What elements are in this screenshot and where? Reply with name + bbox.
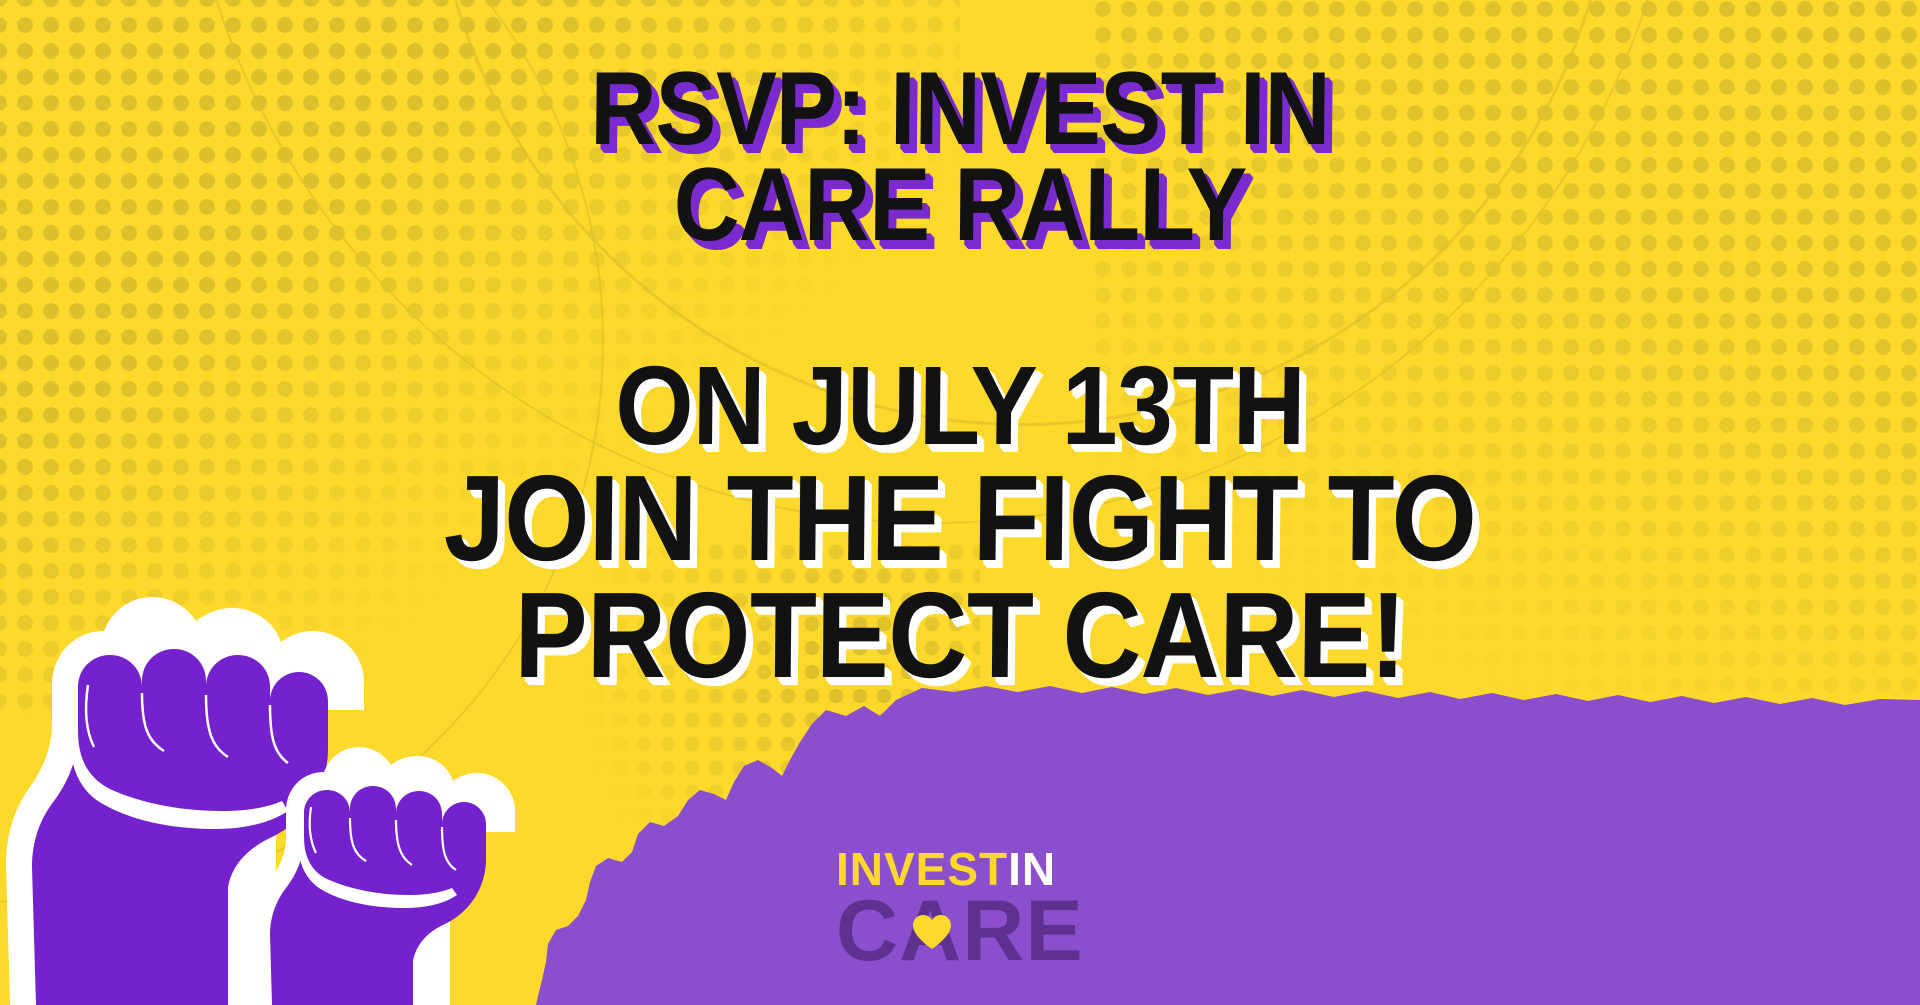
logo-word-care: CARE [836, 883, 1084, 979]
headline-line-1: RSVP: INVEST IN [115, 62, 1805, 158]
invest-in-care-logo: INVESTIN CARE [836, 846, 1084, 974]
body-line-date: ON JULY 13TH [95, 352, 1824, 460]
heart-icon [912, 914, 952, 950]
body-line-2: JOIN THE FIGHT TO [95, 460, 1824, 577]
body-line-3: PROTECT CARE! [95, 577, 1824, 694]
body-copy-block: ON JULY 13TH JOIN THE FIGHT TO PROTECT C… [0, 352, 1920, 694]
logo-bottom-row: CARE [836, 888, 1084, 974]
rally-promo-poster: RSVP: INVEST IN CARE RALLY ON JULY 13TH … [0, 0, 1920, 1005]
headline-block: RSVP: INVEST IN CARE RALLY [0, 62, 1920, 253]
headline-line-2: CARE RALLY [115, 158, 1805, 254]
